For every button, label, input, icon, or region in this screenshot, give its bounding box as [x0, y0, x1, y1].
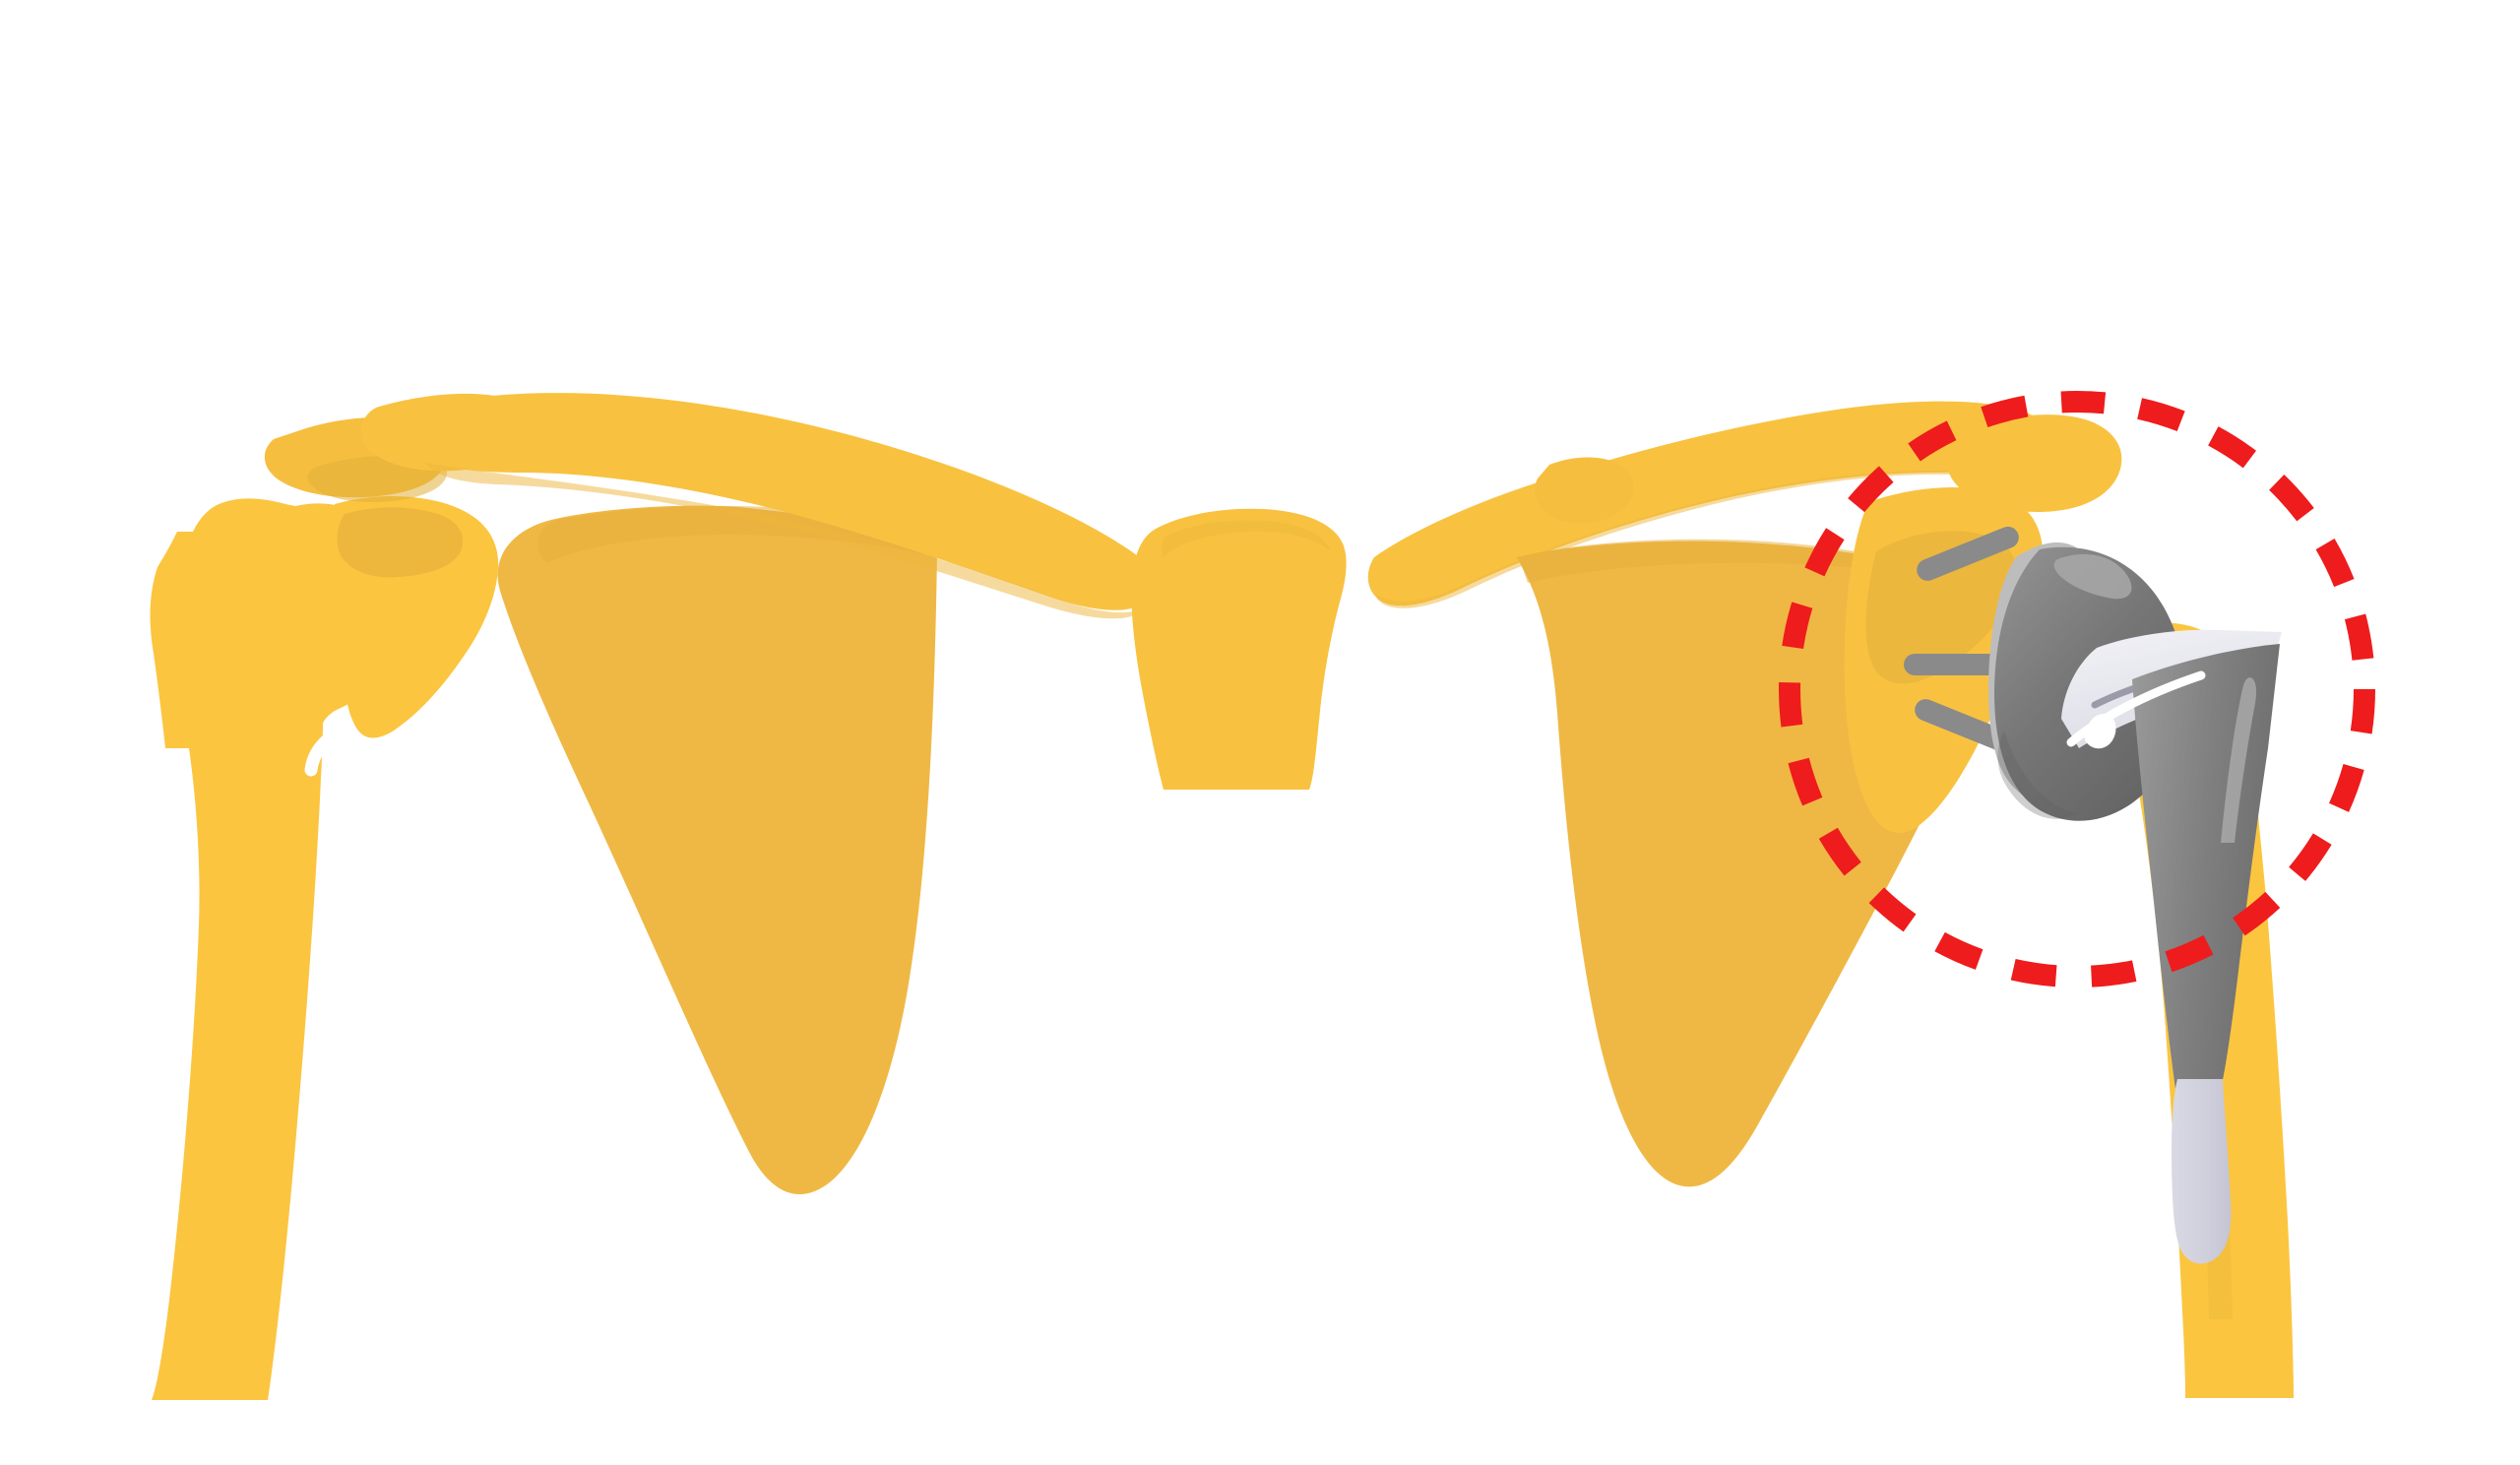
right-acromion: [1947, 414, 2122, 512]
implant-distal-stem: [2172, 1079, 2231, 1264]
illustration-root: Reverse Shoulder Replacement: [0, 0, 2520, 1465]
shoulder-illustration-svg: [0, 0, 2520, 1465]
sternum-group: [1131, 509, 1346, 790]
